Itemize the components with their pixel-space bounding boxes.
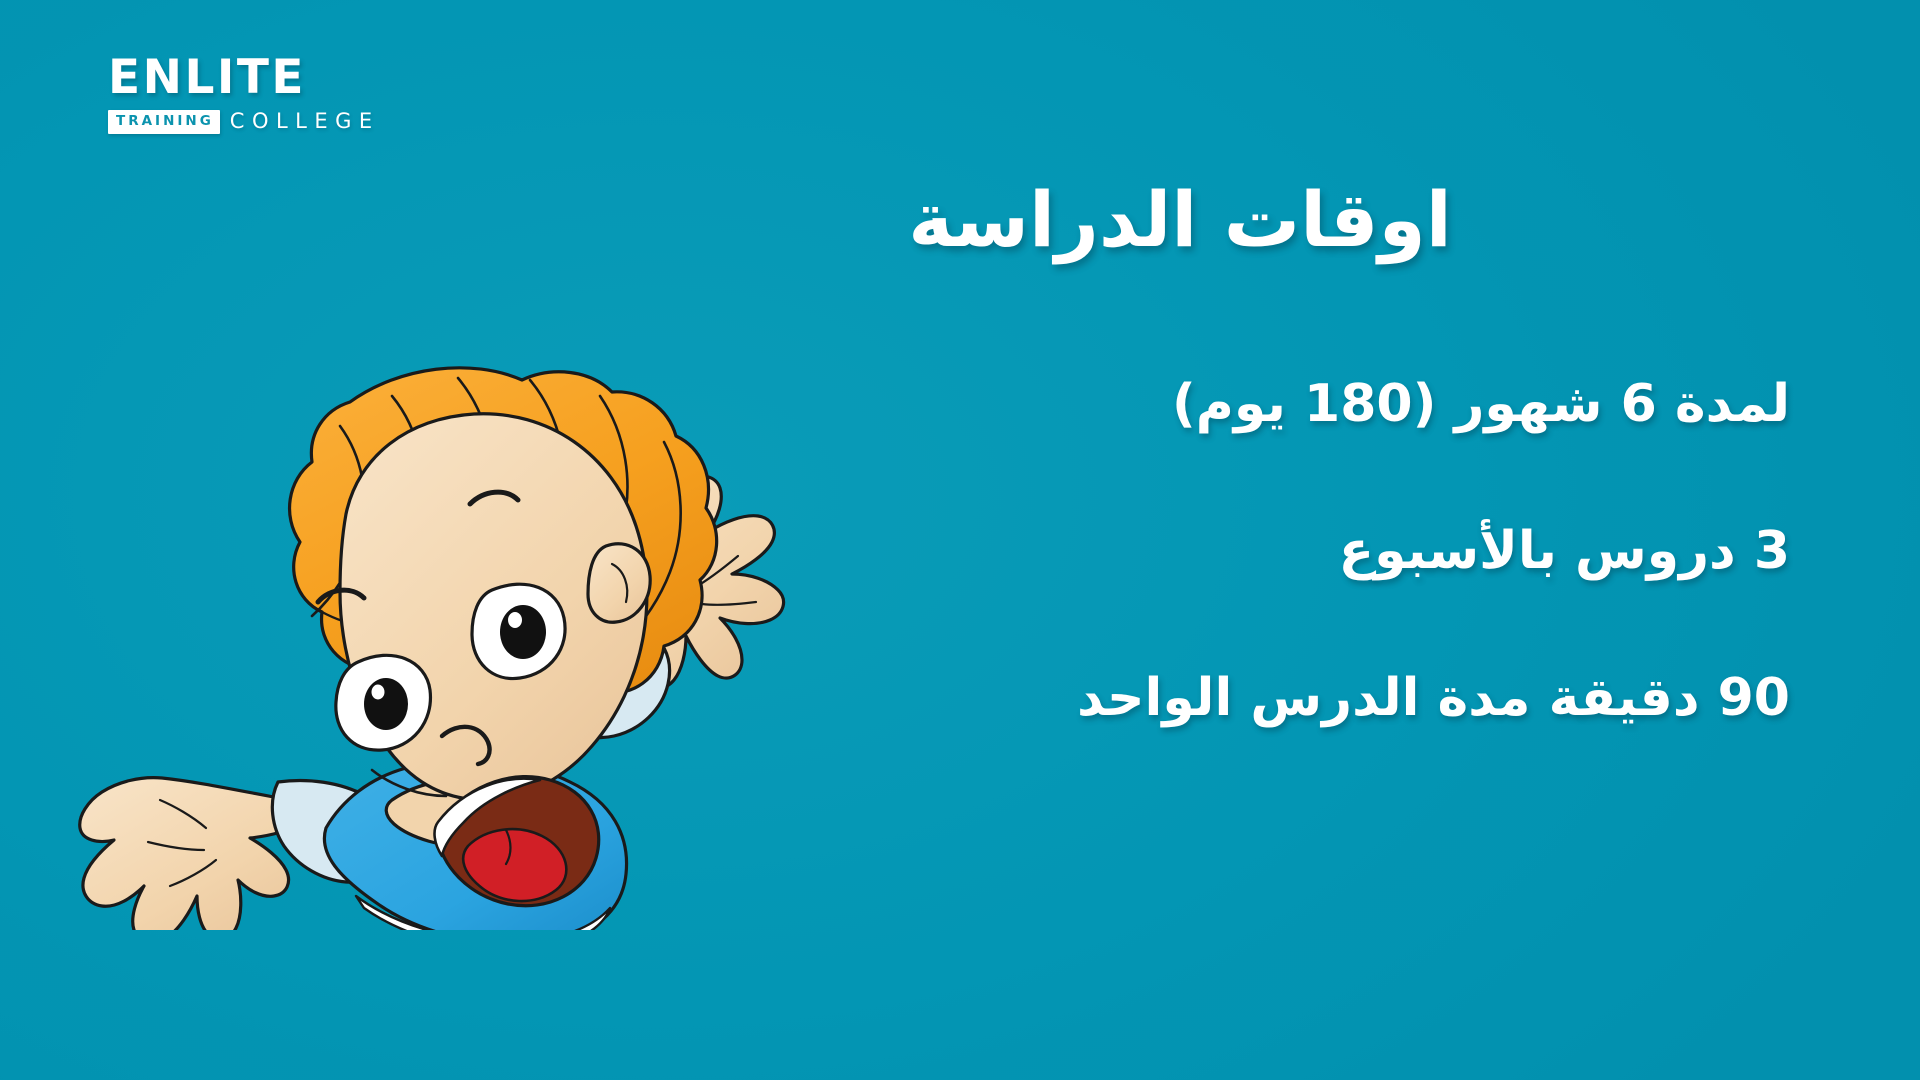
page-title: اوقات الدراسة (860, 175, 1500, 265)
detail-line-duration: لمدة 6 شهور (180 يوم) (830, 372, 1790, 437)
boy-eye-right (472, 584, 565, 678)
study-details-list: لمدة 6 شهور (180 يوم) 3 دروس بالأسبوع 90… (830, 372, 1790, 731)
detail-line-lessons-per-week: 3 دروس بالأسبوع (830, 519, 1790, 584)
logo-college-text: COLLEGE (230, 111, 380, 132)
boy-eye-left (336, 655, 431, 750)
cartoon-boy-illustration (40, 330, 830, 930)
brand-logo[interactable]: ENLITE TRAINING COLLEGE (108, 54, 358, 134)
logo-wordmark: ENLITE (108, 54, 358, 101)
slide-canvas: ENLITE TRAINING COLLEGE اوقات الدراسة لم… (0, 0, 1920, 1080)
logo-training-badge: TRAINING (108, 110, 220, 134)
cartoon-boy-svg (40, 330, 830, 930)
logo-subline: TRAINING COLLEGE (108, 110, 358, 134)
detail-line-lesson-length: 90 دقيقة مدة الدرس الواحد (830, 666, 1790, 731)
